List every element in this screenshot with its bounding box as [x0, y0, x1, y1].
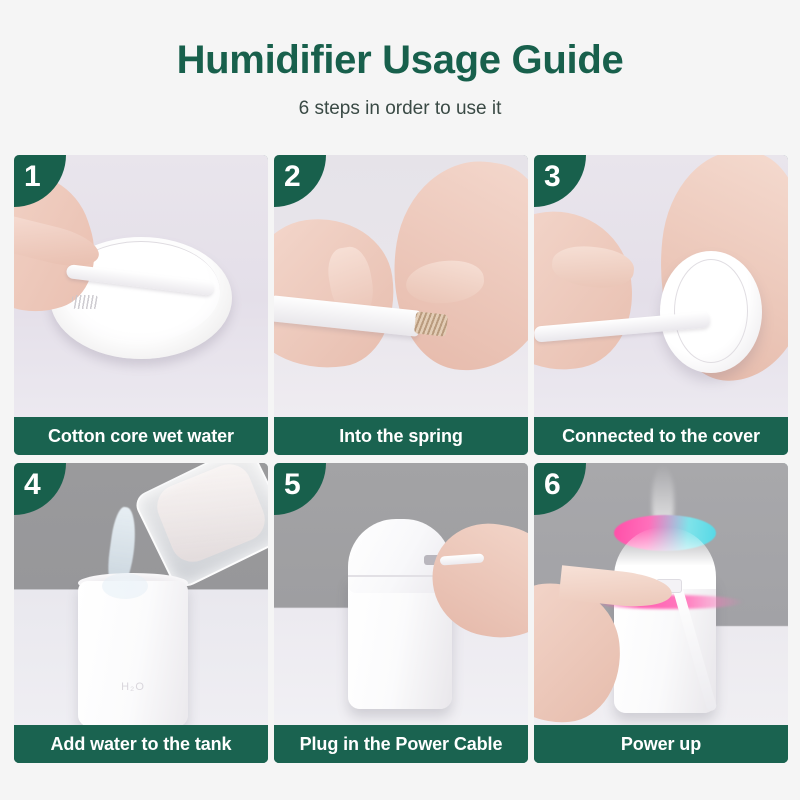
water-tank — [78, 581, 188, 725]
step-card-4[interactable]: H₂O 4 Add water to the tank — [14, 463, 268, 763]
step-card-2[interactable]: 2 Into the spring — [274, 155, 528, 455]
tank-h2o-label: H₂O — [78, 681, 188, 693]
scene-into-the-spring — [274, 155, 528, 417]
step-card-1[interactable]: 1 Cotton core wet water — [14, 155, 268, 455]
scene-add-water-to-the-tank: H₂O — [14, 463, 268, 725]
step-card-6[interactable]: 6 Power up — [534, 463, 788, 763]
step-caption-2: Into the spring — [274, 417, 528, 455]
step-caption-1: Cotton core wet water — [14, 417, 268, 455]
infographic-page: Humidifier Usage Guide 6 steps in order … — [0, 0, 800, 800]
step-photo-1: 1 — [14, 155, 268, 417]
step-caption-4: Add water to the tank — [14, 725, 268, 763]
step-caption-3: Connected to the cover — [534, 417, 788, 455]
step-caption-5: Plug in the Power Cable — [274, 725, 528, 763]
water-splash — [102, 573, 148, 599]
step-card-3[interactable]: 3 Connected to the cover — [534, 155, 788, 455]
left-hand — [534, 197, 647, 385]
spring-coil — [72, 295, 98, 309]
step-photo-6: 6 — [534, 463, 788, 725]
page-subtitle: 6 steps in order to use it — [0, 98, 800, 120]
scene-power-up — [534, 463, 788, 725]
step-card-5[interactable]: 5 Plug in the Power Cable — [274, 463, 528, 763]
page-title: Humidifier Usage Guide — [0, 38, 800, 82]
spring-coil — [414, 311, 448, 336]
header: Humidifier Usage Guide 6 steps in order … — [0, 0, 800, 120]
steps-grid: 1 Cotton core wet water 2 Into the sprin… — [14, 155, 788, 763]
step-photo-3: 3 — [534, 155, 788, 417]
scene-connected-to-the-cover — [534, 155, 788, 417]
step-photo-5: 5 — [274, 463, 528, 725]
scene-plug-in-the-power-cable — [274, 463, 528, 725]
scene-cotton-core-wet-water — [14, 155, 268, 417]
step-photo-2: 2 — [274, 155, 528, 417]
step-photo-4: H₂O 4 — [14, 463, 268, 725]
step-caption-6: Power up — [534, 725, 788, 763]
cover-rim — [674, 259, 748, 363]
